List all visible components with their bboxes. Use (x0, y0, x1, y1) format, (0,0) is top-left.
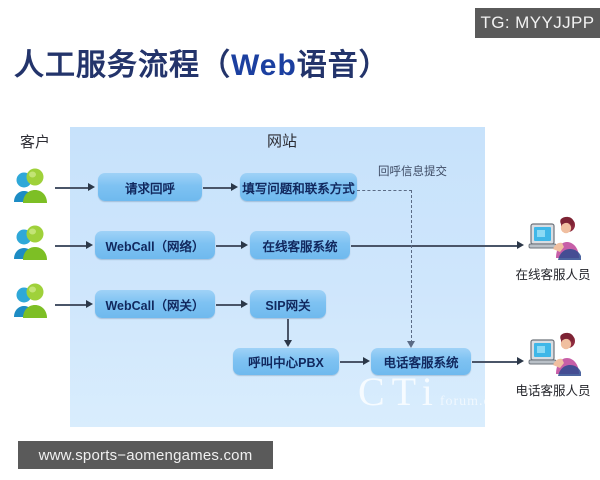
connector-phone-sys-to-phone-agent (472, 361, 519, 363)
page-title-suffix: 语音） (297, 49, 390, 82)
connector-online-sys-to-online-agent (351, 245, 519, 247)
box-online-service-system-label: 在线客服系统 (262, 236, 337, 255)
arrow-request-to-fill (231, 183, 238, 191)
box-call-center-pbx-label: 呼叫中心PBX (248, 352, 324, 371)
box-request-callback-label: 请求回呼 (125, 178, 175, 197)
connector-webcall-net-to-online-sys (216, 245, 242, 247)
arrow-webcall-net-to-online-sys (241, 241, 248, 249)
dashed-flow-label: 回呼信息提交 (378, 163, 447, 179)
box-call-center-pbx[interactable]: 呼叫中心PBX (233, 348, 339, 375)
box-webcall-network-label: WebCall（网络） (105, 236, 204, 255)
arrow-webcall-gw-to-sip (241, 300, 248, 308)
phone-agent-label: 电话客服人员 (498, 380, 600, 399)
diagram-canvas: 人工服务流程（Web语音） 网站 客户 CTiforum.com (0, 0, 600, 480)
box-sip-gateway-label: SIP网关 (265, 295, 310, 314)
phone-agent-icon (525, 332, 581, 378)
customer-zone-label: 客户 (10, 131, 60, 152)
connector-request-to-fill (203, 187, 232, 189)
connector-webcall-gw-to-sip (216, 304, 242, 306)
arrow-customer2-to-webcall-net (86, 241, 93, 249)
customer-1-icon (8, 165, 54, 205)
page-title-web: Web (231, 49, 297, 82)
box-phone-service-system-label: 电话客服系统 (383, 352, 458, 371)
connector-customer3-to-webcall-gw (55, 304, 88, 306)
arrow-online-sys-to-online-agent (517, 241, 524, 249)
customer-3-icon (8, 280, 54, 320)
box-fill-question-contact[interactable]: 填写问题和联系方式 (240, 173, 357, 201)
arrow-pbx-to-phone-sys (363, 357, 370, 365)
connector-pbx-to-phone-sys (340, 361, 364, 363)
box-sip-gateway[interactable]: SIP网关 (250, 290, 326, 318)
arrow-dashed-to-phone-sys (407, 341, 415, 348)
online-agent-icon (525, 216, 581, 262)
box-webcall-network[interactable]: WebCall（网络） (95, 231, 215, 259)
dashed-connector-fill-to-vertical (357, 190, 412, 191)
tg-badge: TG: MYYJJPP (475, 8, 600, 38)
page-title: 人工服务流程（Web语音） (14, 40, 390, 84)
website-panel-label: 网站 (252, 130, 312, 151)
box-request-callback[interactable]: 请求回呼 (98, 173, 202, 201)
box-online-service-system[interactable]: 在线客服系统 (250, 231, 350, 259)
arrow-customer1-to-request (88, 183, 95, 191)
box-phone-service-system[interactable]: 电话客服系统 (371, 348, 471, 375)
connector-customer1-to-request (55, 187, 90, 189)
box-webcall-gateway-label: WebCall（网关） (105, 295, 204, 314)
customer-2-icon (8, 222, 54, 262)
dashed-connector-vertical-to-phone-sys (411, 190, 412, 343)
page-title-prefix: 人工服务流程（ (14, 49, 231, 82)
connector-customer2-to-webcall-net (55, 245, 88, 247)
url-overlay: www.sports−aomengames.com (18, 441, 273, 469)
arrow-customer3-to-webcall-gw (86, 300, 93, 308)
online-agent-label: 在线客服人员 (498, 264, 600, 283)
arrow-sip-to-pbx (284, 340, 292, 347)
box-webcall-gateway[interactable]: WebCall（网关） (95, 290, 215, 318)
arrow-phone-sys-to-phone-agent (517, 357, 524, 365)
box-fill-question-contact-label: 填写问题和联系方式 (242, 178, 355, 197)
